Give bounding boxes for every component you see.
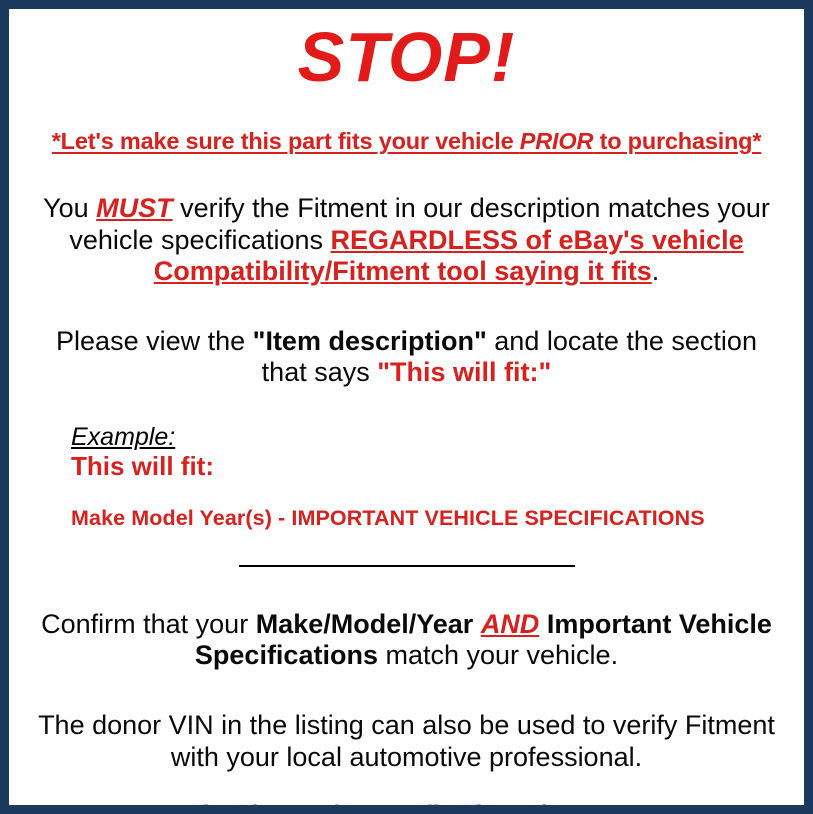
subtitle-text-after: to purchasing* — [593, 128, 761, 154]
page-title: STOP! — [19, 22, 794, 92]
example-fit-heading: This will fit: — [71, 452, 794, 482]
must-paragraph-end: . — [652, 256, 660, 286]
subtitle-text-before: *Let's make sure this part fits your veh… — [52, 128, 520, 154]
must-emphasis: MUST — [96, 193, 173, 223]
confirm-paragraph-end: match your vehicle. — [378, 640, 618, 670]
example-label: Example: — [71, 423, 794, 451]
donor-vin-paragraph: The donor VIN in the listing can also be… — [19, 710, 794, 773]
subtitle-emphasis-prior: PRIOR — [520, 128, 593, 154]
fitment-notice-card: STOP! *Let's make sure this part fits yo… — [0, 0, 813, 814]
view-description-paragraph: Please view the "Item description" and l… — [19, 326, 794, 389]
example-spec-line: Make Model Year(s) - IMPORTANT VEHICLE S… — [71, 506, 794, 531]
notice-content: STOP! *Let's make sure this part fits yo… — [9, 22, 804, 814]
thank-you-message: Thank you for confirming Fitment! — [19, 800, 794, 814]
section-divider — [239, 565, 575, 567]
and-emphasis: AND — [481, 609, 540, 639]
this-will-fit-emphasis: "This will fit:" — [377, 357, 551, 387]
section-divider-wrapper — [19, 557, 794, 575]
notice-subtitle: *Let's make sure this part fits your veh… — [19, 128, 794, 155]
view-paragraph-lead: Please view the — [56, 326, 253, 356]
make-model-year-emphasis: Make/Model/Year — [256, 609, 474, 639]
confirm-paragraph: Confirm that your Make/Model/Year AND Im… — [19, 609, 794, 672]
must-verify-paragraph: You MUST verify the Fitment in our descr… — [19, 193, 794, 288]
item-description-emphasis: "Item description" — [253, 326, 487, 356]
must-paragraph-lead: You — [43, 193, 96, 223]
confirm-paragraph-lead: Confirm that your — [41, 609, 256, 639]
example-block: Example: This will fit: Make Model Year(… — [19, 423, 794, 531]
